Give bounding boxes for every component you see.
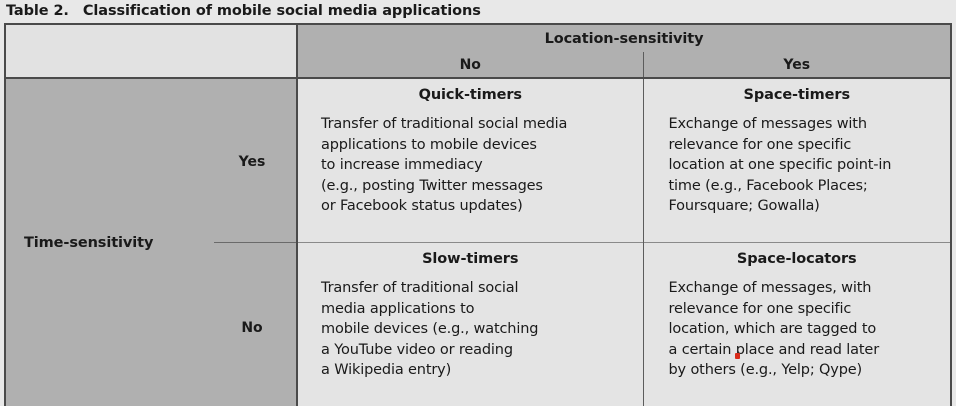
cell-quick-timers-body: Transfer of traditional social media app… xyxy=(298,114,643,217)
cell-space-locators: Space-locators Exchange of messages, wit… xyxy=(643,243,950,406)
column-header-no: No xyxy=(297,52,643,78)
table-row: Time-sensitivity Yes No Quick-timers Tra… xyxy=(6,78,950,243)
corner-blank-cell xyxy=(6,25,297,78)
classification-table: Location-sensitivity No Yes Time-sensiti… xyxy=(4,23,952,406)
row-header-divider xyxy=(214,242,296,243)
column-header-yes: Yes xyxy=(643,52,950,78)
column-axis-title: Location-sensitivity xyxy=(297,25,950,52)
cell-space-timers: Space-timers Exchange of messages with r… xyxy=(643,78,950,243)
cell-slow-timers-body: Transfer of traditional social media app… xyxy=(298,278,643,381)
table-header-group-row: Location-sensitivity xyxy=(6,25,950,52)
row-header-no: No xyxy=(212,320,292,336)
table-caption-number: Table 2. xyxy=(6,3,69,19)
cell-space-locators-body: Exchange of messages, with relevance for… xyxy=(644,278,951,381)
cell-space-timers-body: Exchange of messages with relevance for … xyxy=(644,114,951,217)
cell-quick-timers: Quick-timers Transfer of traditional soc… xyxy=(297,78,643,243)
cell-space-timers-title: Space-timers xyxy=(644,87,951,103)
table-caption: Table 2.Classification of mobile social … xyxy=(6,1,481,22)
table-figure: Table 2.Classification of mobile social … xyxy=(0,0,956,406)
cell-slow-timers: Slow-timers Transfer of traditional soci… xyxy=(297,243,643,406)
row-header-yes: Yes xyxy=(212,154,292,170)
row-axis-title: Time-sensitivity xyxy=(24,235,153,251)
table-caption-text: Classification of mobile social media ap… xyxy=(83,3,481,19)
cell-quick-timers-title: Quick-timers xyxy=(298,87,643,103)
row-axis-header-cell: Time-sensitivity Yes No xyxy=(6,78,297,406)
cell-space-locators-title: Space-locators xyxy=(644,251,951,267)
red-marker-dot xyxy=(735,353,740,359)
cell-slow-timers-title: Slow-timers xyxy=(298,251,643,267)
